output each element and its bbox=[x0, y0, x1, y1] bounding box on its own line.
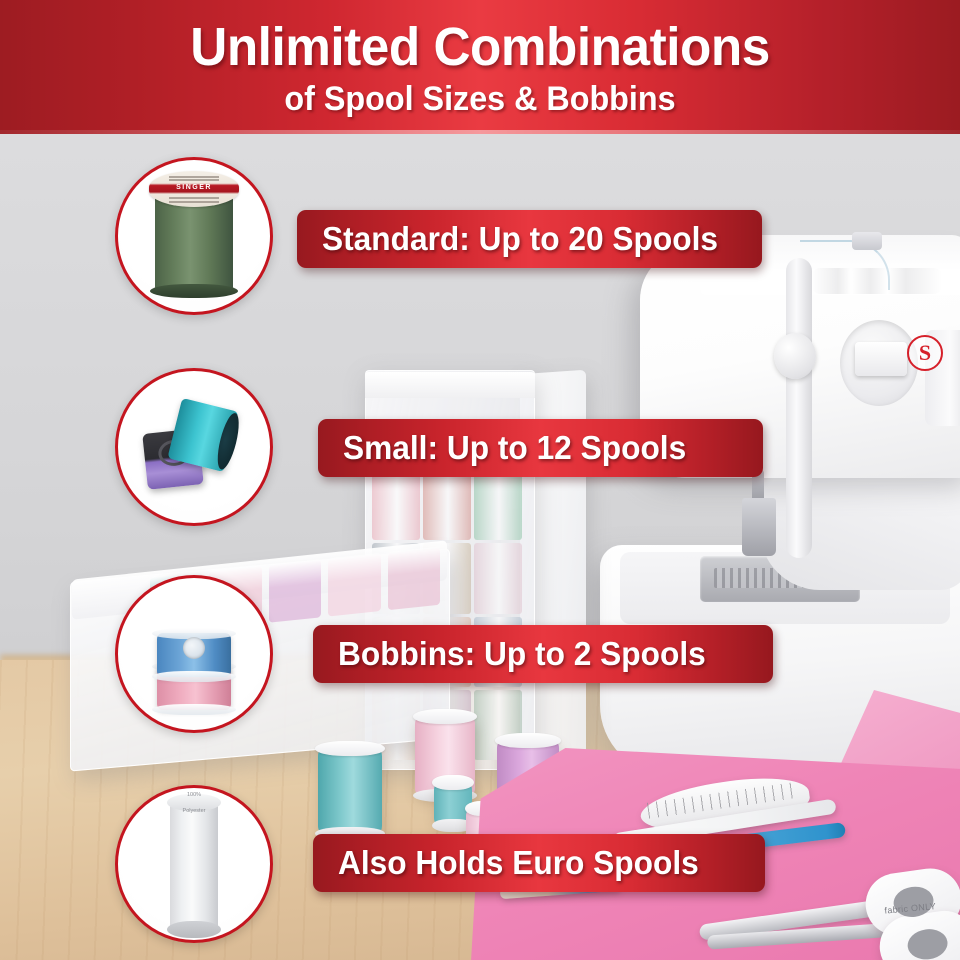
table-spool-teal bbox=[318, 748, 382, 834]
flat-box-spool bbox=[269, 559, 321, 623]
teal-small-spool-icon bbox=[167, 398, 238, 472]
singer-logo-badge: S bbox=[907, 335, 943, 371]
feature-label-bobbins: Bobbins: Up to 2 Spools bbox=[313, 635, 706, 673]
page-subtitle: of Spool Sizes & Bobbins bbox=[24, 80, 936, 119]
stored-spool bbox=[474, 543, 522, 613]
feature-banner-euro: Also Holds Euro Spools bbox=[313, 834, 765, 892]
bobbin-center-hole bbox=[183, 637, 205, 659]
stored-spool bbox=[474, 470, 522, 540]
feature-banner-small: Small: Up to 12 Spools bbox=[318, 419, 763, 477]
product-infographic: S bbox=[0, 0, 960, 960]
green-thread-spool-icon: SINGER bbox=[155, 187, 233, 291]
euro-thread-spool-icon: 100% Polyester bbox=[170, 802, 218, 930]
presser-foot bbox=[742, 498, 776, 556]
feature-thumbnail-bobbins bbox=[115, 575, 273, 733]
spool-brand-label: SINGER bbox=[149, 171, 239, 207]
page-title: Unlimited Combinations bbox=[24, 16, 936, 78]
feature-label-euro: Also Holds Euro Spools bbox=[313, 844, 699, 882]
machine-model-script bbox=[812, 268, 942, 294]
feature-label-small: Small: Up to 12 Spools bbox=[318, 429, 686, 467]
feature-thumbnail-euro: 100% Polyester bbox=[115, 785, 273, 943]
flat-box-spool bbox=[388, 547, 440, 611]
flat-box-spool bbox=[328, 553, 380, 617]
stitch-selector-tab bbox=[855, 342, 907, 376]
euro-spool-cap-text: 100% bbox=[167, 792, 221, 799]
feature-banner-standard: Standard: Up to 20 Spools bbox=[297, 210, 762, 268]
feature-banner-bobbins: Bobbins: Up to 2 Spools bbox=[313, 625, 773, 683]
box-lid bbox=[365, 372, 535, 398]
stored-spool bbox=[372, 470, 420, 540]
spool-pin bbox=[852, 232, 882, 250]
euro-spool-cap-subtext: Polyester bbox=[170, 808, 218, 815]
tension-knob bbox=[774, 333, 816, 379]
spool-brand-text: SINGER bbox=[149, 184, 239, 191]
feature-thumbnail-standard: SINGER bbox=[115, 157, 273, 315]
machine-faceplate bbox=[786, 258, 812, 558]
stored-spool bbox=[423, 470, 471, 540]
feature-thumbnail-small bbox=[115, 368, 273, 526]
feature-label-standard: Standard: Up to 20 Spools bbox=[297, 220, 718, 258]
header-banner: Unlimited Combinations of Spool Sizes & … bbox=[0, 0, 960, 134]
euro-spool-bottom-cap bbox=[167, 921, 221, 938]
